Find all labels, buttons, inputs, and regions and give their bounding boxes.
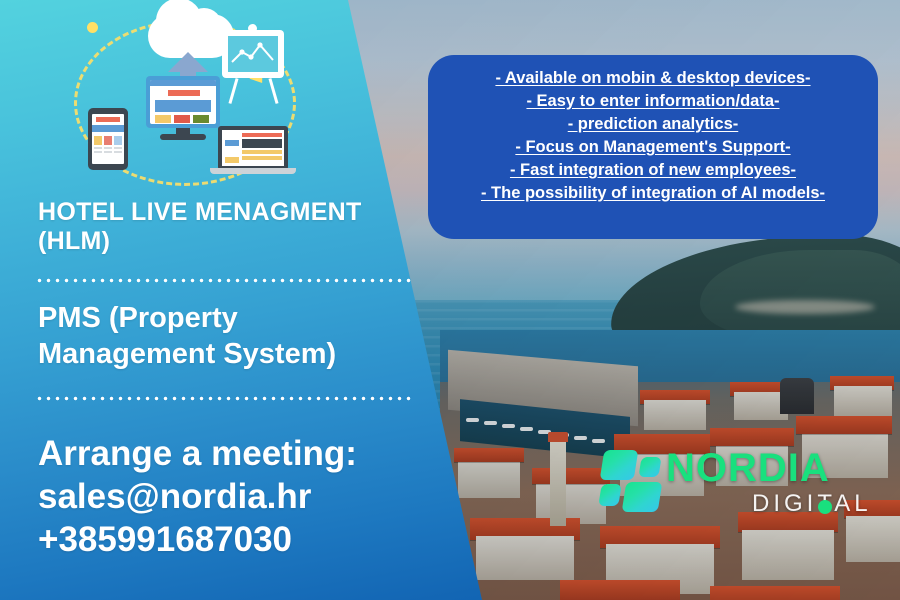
- logo-tagline: DIGITAL: [752, 490, 872, 518]
- logo-wordmark: NORDIA: [666, 446, 830, 491]
- easel-knob-icon: [248, 24, 257, 33]
- feature-item: - Fast integration of new employees-: [438, 159, 868, 182]
- contact-email[interactable]: sales@nordia.hr: [38, 475, 438, 518]
- laptop-base-icon: [210, 168, 296, 174]
- feature-item: - The possibility of integration of AI m…: [438, 182, 868, 205]
- contact-phone[interactable]: +385991687030: [38, 518, 438, 561]
- page-title: HOTEL LIVE MENAGMENT (HLM): [38, 198, 418, 256]
- orbit-dot-icon: [87, 22, 98, 33]
- nordia-digital-logo: NORDIA DIGITAL: [600, 448, 840, 518]
- poster-canvas: HOTEL LIVE MENAGMENT (HLM) PMS (Property…: [0, 0, 900, 600]
- logo-dot-icon: [818, 500, 832, 514]
- divider-dotted-top: [35, 278, 413, 283]
- feature-item: - Easy to enter information/data-: [438, 90, 868, 113]
- feature-item: - Focus on Management's Support-: [438, 136, 868, 159]
- subhead-line-1: PMS (Property: [38, 300, 428, 336]
- subhead-line-2: Management System): [38, 336, 428, 372]
- desktop-monitor-icon: [146, 76, 220, 128]
- feature-list-card: - Available on mobin & desktop devices- …: [428, 55, 878, 239]
- laptop-icon: [218, 126, 288, 170]
- feature-item: - Available on mobin & desktop devices-: [438, 67, 868, 90]
- cloud-devices-illustration: [60, 8, 310, 193]
- headline-line-2: (HLM): [38, 227, 418, 256]
- cloud-puff-right-icon: [186, 8, 222, 44]
- feature-item: - prediction analytics-: [438, 113, 868, 136]
- contact-block: Arrange a meeting: sales@nordia.hr +3859…: [38, 432, 438, 561]
- headline-line-1: HOTEL LIVE MENAGMENT: [38, 198, 418, 227]
- nordia-logo-mark-icon: [600, 450, 664, 512]
- contact-call-to-action: Arrange a meeting:: [38, 432, 438, 475]
- divider-dotted-bottom: [35, 396, 413, 401]
- presentation-chart-icon: [222, 30, 284, 78]
- subheading: PMS (Property Management System): [38, 300, 428, 372]
- monitor-base-icon: [160, 134, 206, 140]
- tablet-icon: [88, 108, 128, 170]
